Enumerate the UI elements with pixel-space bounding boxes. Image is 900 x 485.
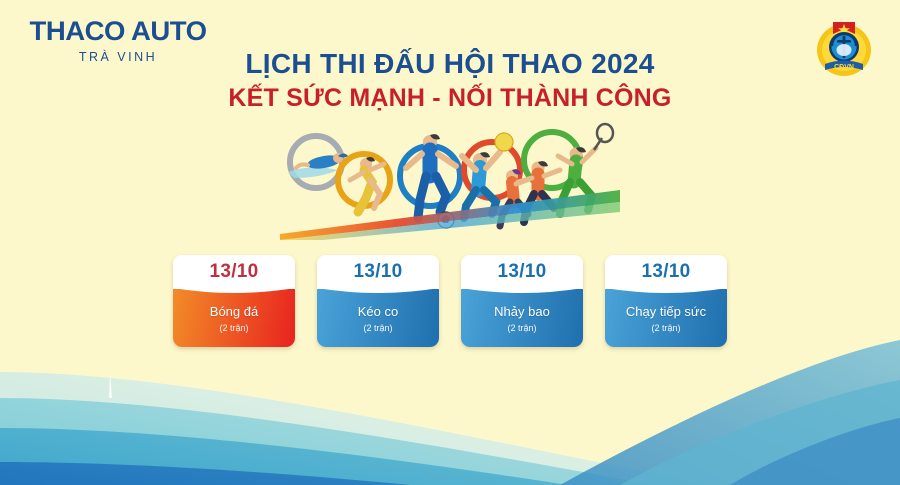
card-event-name: Kéo co <box>358 305 398 319</box>
card-event-name: Chạy tiếp sức <box>626 305 706 319</box>
card-date: 13/10 <box>497 261 546 283</box>
card-match-count: (2 trận) <box>651 323 680 333</box>
card-divider-curve <box>605 281 727 297</box>
volleyball <box>495 133 513 151</box>
card-match-count: (2 trận) <box>219 323 248 333</box>
card-date: 13/10 <box>353 261 402 283</box>
card-divider-curve <box>461 281 583 297</box>
card-divider-curve <box>317 281 439 297</box>
brand-branch-label: TRÀ VINH <box>28 50 208 64</box>
brand-wordmark: THACO AUTO <box>26 18 210 45</box>
vietnam-trade-union-emblem: CĐVN <box>813 14 875 80</box>
card-date: 13/10 <box>209 261 258 283</box>
badminton-racket <box>594 124 613 150</box>
event-card[interactable]: Kéo co(2 trận)13/10 <box>317 255 439 347</box>
card-event-name: Bóng đá <box>210 305 258 319</box>
page-subtitle: KẾT SỨC MẠNH - NỐI THÀNH CÔNG <box>0 83 900 113</box>
thaco-auto-logo: THACO AUTO TRÀ VINH <box>28 18 208 64</box>
card-divider-curve <box>173 281 295 297</box>
emblem-ribbon-text: CĐVN <box>834 64 854 71</box>
event-card[interactable]: Bóng đá(2 trận)13/10 <box>173 255 295 347</box>
card-event-name: Nhảy bao <box>494 305 550 319</box>
olympic-rings-athletes-illustration <box>280 120 620 240</box>
event-card[interactable]: Chạy tiếp sức(2 trận)13/10 <box>605 255 727 347</box>
event-card[interactable]: Nhảy bao(2 trận)13/10 <box>461 255 583 347</box>
card-match-count: (2 trận) <box>363 323 392 333</box>
schedule-cards-row: Bóng đá(2 trận)13/10Kéo co(2 trận)13/10N… <box>0 255 900 347</box>
card-match-count: (2 trận) <box>507 323 536 333</box>
card-date: 13/10 <box>641 261 690 283</box>
